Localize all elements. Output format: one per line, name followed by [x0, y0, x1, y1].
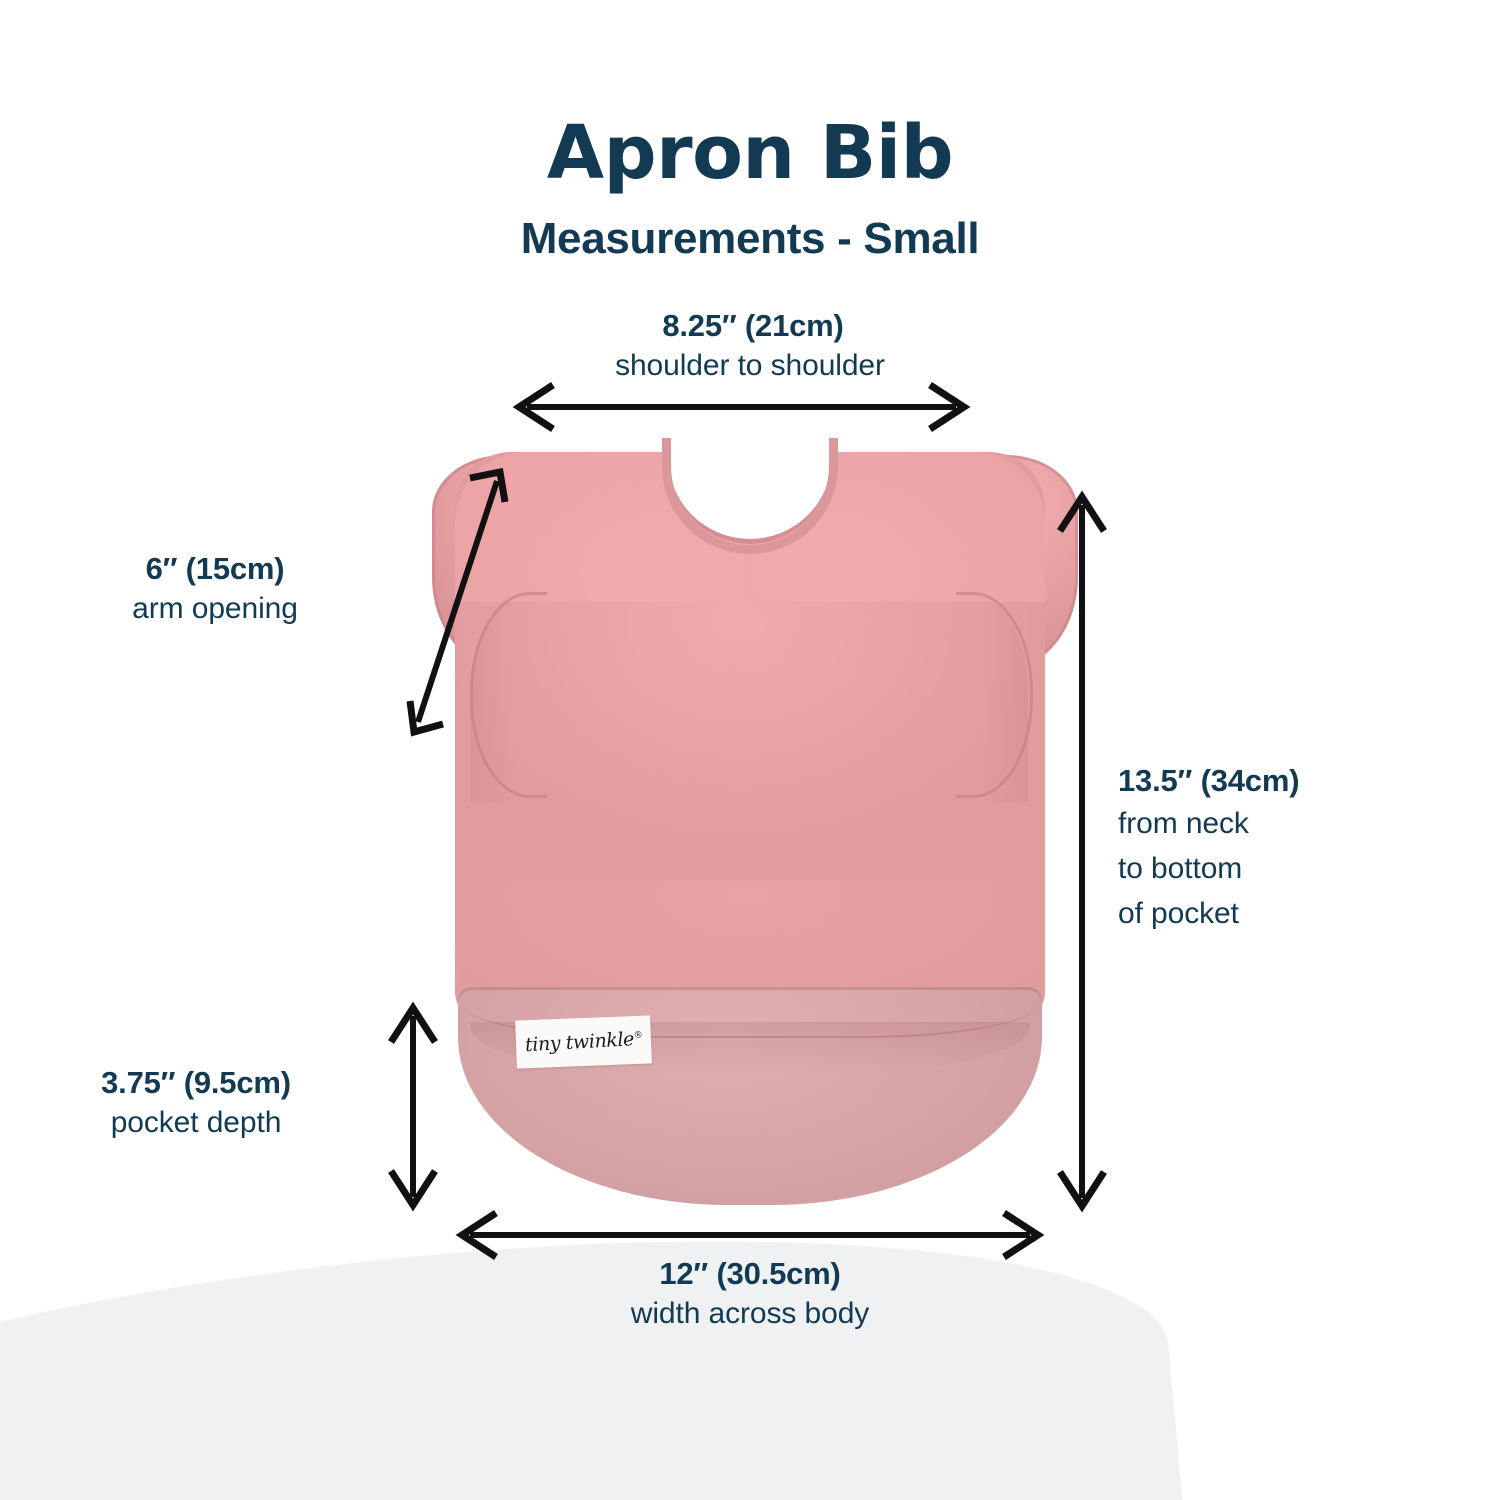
measurement-diagram-page: tiny twinkle® Apron Bib Measurements - S…	[0, 0, 1500, 1500]
brand-label-tag: tiny twinkle®	[515, 1015, 652, 1068]
callout-width-label: width across body	[0, 1294, 1500, 1334]
callout-pocket-label: pocket depth	[0, 1103, 392, 1143]
callout-neck-label-line1: from neck	[1118, 801, 1299, 846]
callout-neck-value: 13.5″ (34cm)	[1118, 760, 1299, 801]
callout-width-across-body: 12″ (30.5cm) width across body	[0, 1253, 1500, 1334]
callout-pocket-depth: 3.75″ (9.5cm) pocket depth	[0, 1062, 392, 1143]
callout-shoulder-label: shoulder to shoulder	[0, 346, 1500, 386]
callout-neck-label-line2: to bottom	[1118, 846, 1299, 891]
page-subtitle: Measurements - Small	[0, 212, 1500, 266]
callout-pocket-value: 3.75″ (9.5cm)	[0, 1062, 392, 1103]
registered-mark: ®	[633, 1030, 642, 1040]
callout-width-value: 12″ (30.5cm)	[0, 1253, 1500, 1294]
callout-shoulder-to-shoulder: 8.25″ (21cm) shoulder to shoulder	[0, 305, 1500, 386]
callout-arm-label: arm opening	[0, 589, 430, 629]
callout-arm-value: 6″ (15cm)	[0, 548, 430, 589]
brand-label-text: tiny twinkle®	[524, 1028, 643, 1057]
callout-neck-to-pocket: 13.5″ (34cm) from neck to bottom of pock…	[1118, 760, 1299, 936]
callout-arm-opening: 6″ (15cm) arm opening	[0, 548, 430, 629]
callout-shoulder-value: 8.25″ (21cm)	[6, 305, 1500, 346]
page-title: Apron Bib	[0, 112, 1500, 194]
callout-neck-label-line3: of pocket	[1118, 891, 1299, 936]
